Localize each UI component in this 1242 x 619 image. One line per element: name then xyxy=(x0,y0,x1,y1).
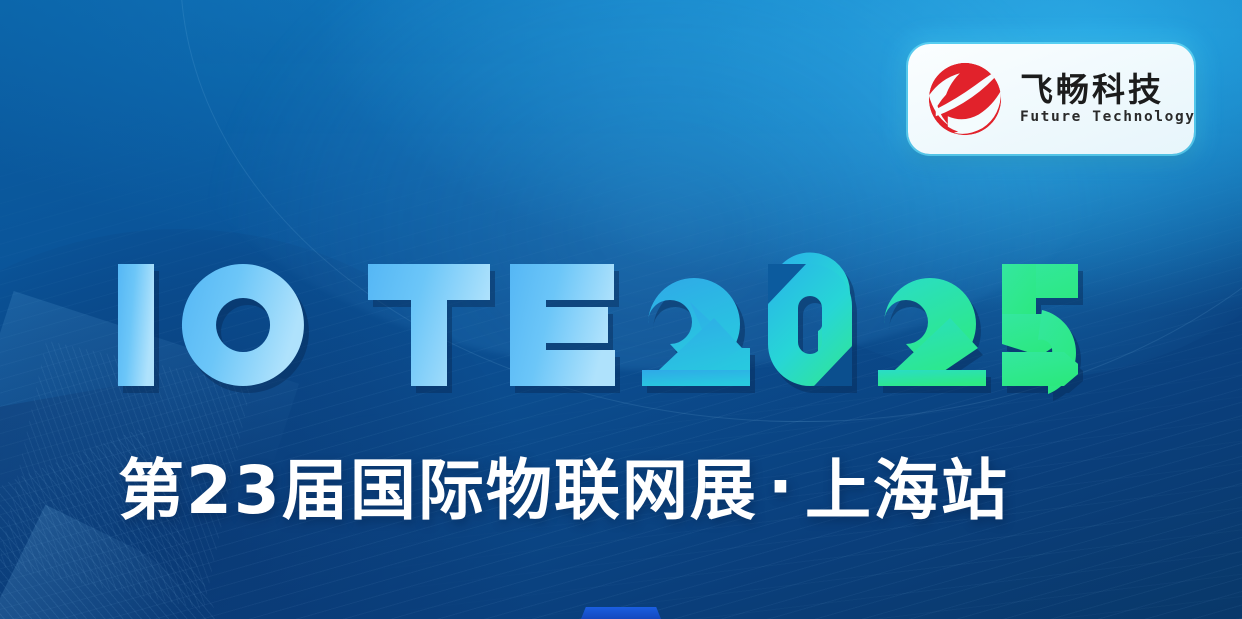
company-logo-badge[interactable]: 飞畅科技 Future Technology xyxy=(908,44,1194,154)
subtitle-city: 上海站 xyxy=(805,452,1009,529)
iote-2025-banner: 飞畅科技 Future Technology xyxy=(0,0,1242,619)
feichang-globe-emblem xyxy=(922,56,1008,142)
company-name-cn: 飞畅科技 xyxy=(1020,73,1196,106)
company-logo-text: 飞畅科技 Future Technology xyxy=(1020,73,1196,125)
event-title xyxy=(118,252,1078,397)
subtitle-main: 第23届国际物联网展 xyxy=(118,452,758,529)
bottom-center-tab xyxy=(581,607,661,619)
event-subtitle: 第23届国际物联网展·上海站 xyxy=(118,455,1009,526)
company-name-en: Future Technology xyxy=(1020,110,1196,125)
subtitle-separator: · xyxy=(758,451,805,522)
